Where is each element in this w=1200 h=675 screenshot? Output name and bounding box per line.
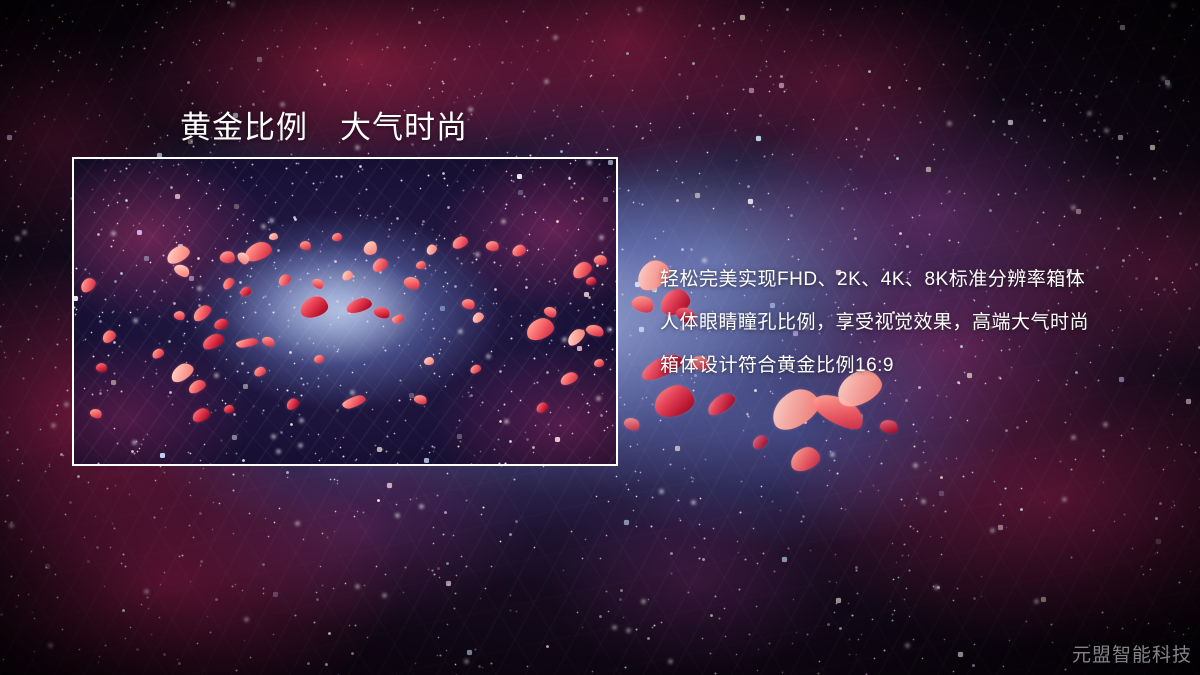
page-title: 黄金比例 大气时尚: [180, 102, 468, 147]
petal: [765, 382, 825, 435]
body-line-3: 箱体设计符合黄金比例16:9: [660, 344, 1089, 387]
nebula-image-panel: [72, 157, 618, 466]
watermark-label: 元盟智能科技: [1072, 640, 1192, 667]
body-line-2: 人体眼睛瞳孔比例，享受视觉效果，高端大气时尚: [660, 301, 1089, 344]
panel-image-content: [74, 159, 616, 464]
body-line-1: 轻松完美实现FHD、2K、4K、8K标准分辨率箱体: [660, 258, 1089, 301]
petal: [704, 390, 738, 419]
panel-wisp-layer: [74, 159, 616, 464]
petal: [651, 382, 696, 420]
petal: [809, 386, 869, 436]
petal: [622, 415, 642, 433]
petal: [630, 292, 657, 316]
petal: [878, 417, 899, 435]
petal: [787, 444, 822, 474]
petal: [750, 433, 770, 451]
slide-canvas: 黄金比例 大气时尚 轻松完美实现FHD、2K、4K、8K标准分辨率箱体 人体眼睛…: [0, 0, 1200, 675]
body-paragraph: 轻松完美实现FHD、2K、4K、8K标准分辨率箱体 人体眼睛瞳孔比例，享受视觉效…: [660, 258, 1089, 387]
